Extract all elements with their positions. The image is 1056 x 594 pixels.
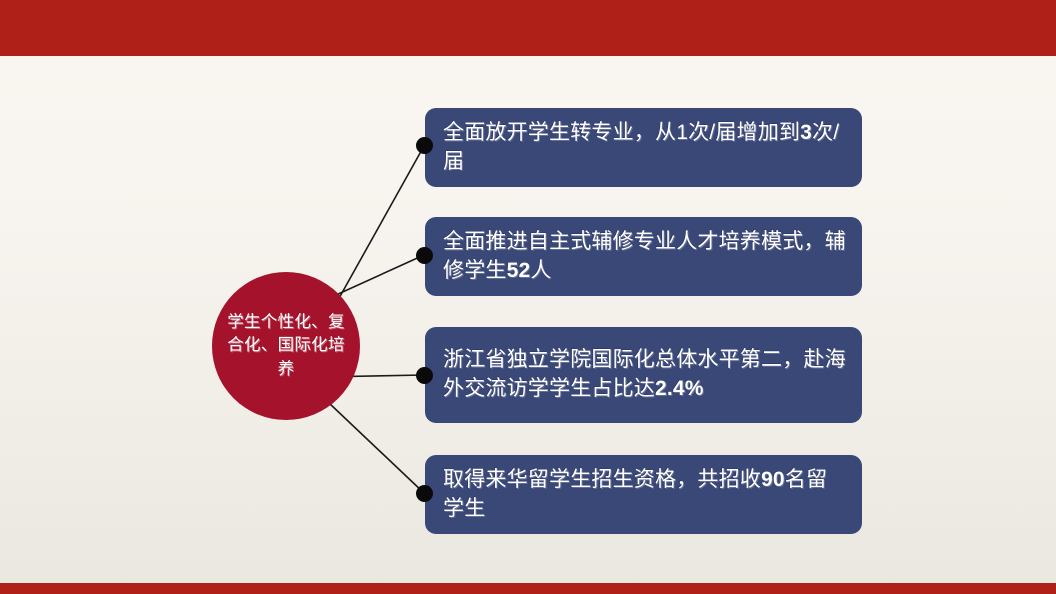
node-bullet-dot-4 (416, 485, 433, 502)
slide-canvas: 学生个性化、复合化、国际化培养 全面放开学生转专业，从1次/届增加到3次/届 全… (0, 0, 1056, 594)
node-text-2: 全面推进自主式辅修专业人才培养模式，辅修学生52人 (443, 228, 848, 286)
node-text-3: 浙江省独立学院国际化总体水平第二，赴海外交流访学学生占比达2.4% (443, 346, 848, 404)
node-text-4: 取得来华留学生招生资格，共招收90名留学生 (443, 466, 848, 524)
node-box-1[interactable]: 全面放开学生转专业，从1次/届增加到3次/届 (425, 108, 862, 187)
central-topic-label: 学生个性化、复合化、国际化培养 (212, 311, 360, 381)
connector-line-2 (325, 255, 424, 300)
connector-line-1 (338, 146, 424, 300)
node-bullet-dot-1 (416, 137, 433, 154)
node-box-4[interactable]: 取得来华留学生招生资格，共招收90名留学生 (425, 455, 862, 534)
central-topic-circle[interactable]: 学生个性化、复合化、国际化培养 (212, 272, 360, 420)
top-accent-bar (0, 0, 1056, 56)
node-box-2[interactable]: 全面推进自主式辅修专业人才培养模式，辅修学生52人 (425, 217, 862, 296)
node-text-1: 全面放开学生转专业，从1次/届增加到3次/届 (443, 119, 848, 177)
node-bullet-dot-2 (416, 247, 433, 264)
node-box-3[interactable]: 浙江省独立学院国际化总体水平第二，赴海外交流访学学生占比达2.4% (425, 327, 862, 423)
bottom-accent-bar (0, 583, 1056, 594)
node-bullet-dot-3 (416, 367, 433, 384)
